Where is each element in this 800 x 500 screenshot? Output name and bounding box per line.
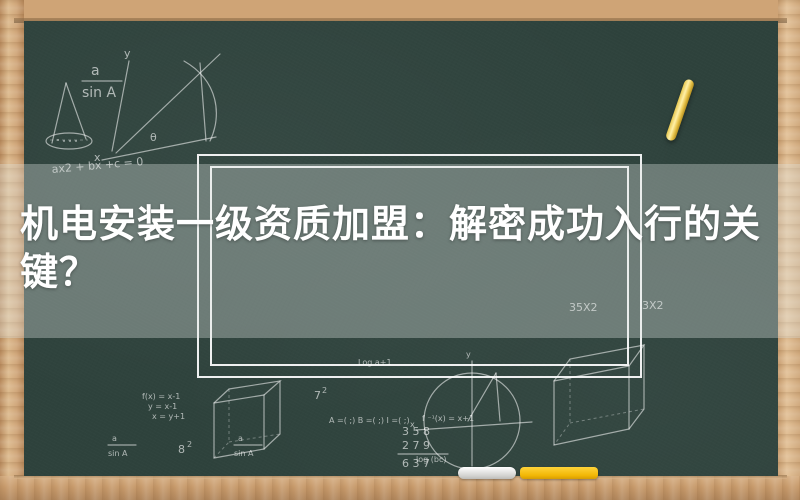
- chalk-formula-a-over-sina-1: a sin A: [108, 434, 136, 458]
- chalk-cube-diagram-center: [214, 381, 280, 458]
- chalk-formula-a-over-sina-topleft: a sin A: [82, 63, 122, 101]
- svg-text:sin A: sin A: [234, 449, 254, 458]
- svg-text:sin A: sin A: [108, 449, 128, 458]
- chalk-formula-a-over-sina-2: a sin A: [234, 434, 262, 458]
- page-title: 机电安装一级资质加盟：解密成功入行的关键？: [20, 200, 780, 296]
- svg-text:x = y+1: x = y+1: [152, 412, 185, 421]
- frame-bottom-ledge: [0, 476, 800, 500]
- svg-text:a: a: [112, 434, 117, 443]
- svg-text:sin A: sin A: [82, 85, 117, 101]
- svg-text:6 3 7: 6 3 7: [402, 457, 430, 470]
- svg-text:f(x) = x-1: f(x) = x-1: [142, 392, 180, 401]
- chalk-inverse-function: f ⁻¹(x) = x+1: [422, 414, 474, 423]
- svg-text:y = x-1: y = x-1: [148, 402, 177, 411]
- svg-text:a: a: [91, 63, 100, 79]
- chalkboard-banner: a sin A y x θ ax2 + bx +c = 0 f(x) = x-1: [0, 0, 800, 500]
- white-chalk-piece-icon: [458, 467, 516, 479]
- yellow-chalk-piece-icon: [520, 467, 598, 479]
- chalk-eight-exponent: 2: [187, 440, 192, 449]
- svg-text:3 5 8: 3 5 8: [402, 425, 430, 438]
- chalk-function-equations: f(x) = x-1 y = x-1 x = y+1: [142, 392, 185, 421]
- svg-text:a: a: [238, 434, 243, 443]
- svg-text:θ: θ: [150, 131, 157, 144]
- frame-right-rail: [778, 0, 800, 500]
- chalk-matrix-note: A =( ;) B =( ;) I =( ;): [329, 416, 410, 425]
- chalk-seven-squared: 7: [314, 389, 321, 402]
- svg-text:2 7 9: 2 7 9: [402, 439, 430, 452]
- chalk-angle-diagram: y x θ: [94, 47, 220, 164]
- svg-text:y: y: [124, 47, 131, 60]
- chalk-quadratic-equation: ax2 + bx +c = 0: [51, 155, 144, 176]
- chalk-seven-exponent: 2: [322, 386, 327, 395]
- chalk-label-3x2: 3X2: [642, 299, 664, 312]
- chalk-eight-squared: 8: [178, 443, 185, 456]
